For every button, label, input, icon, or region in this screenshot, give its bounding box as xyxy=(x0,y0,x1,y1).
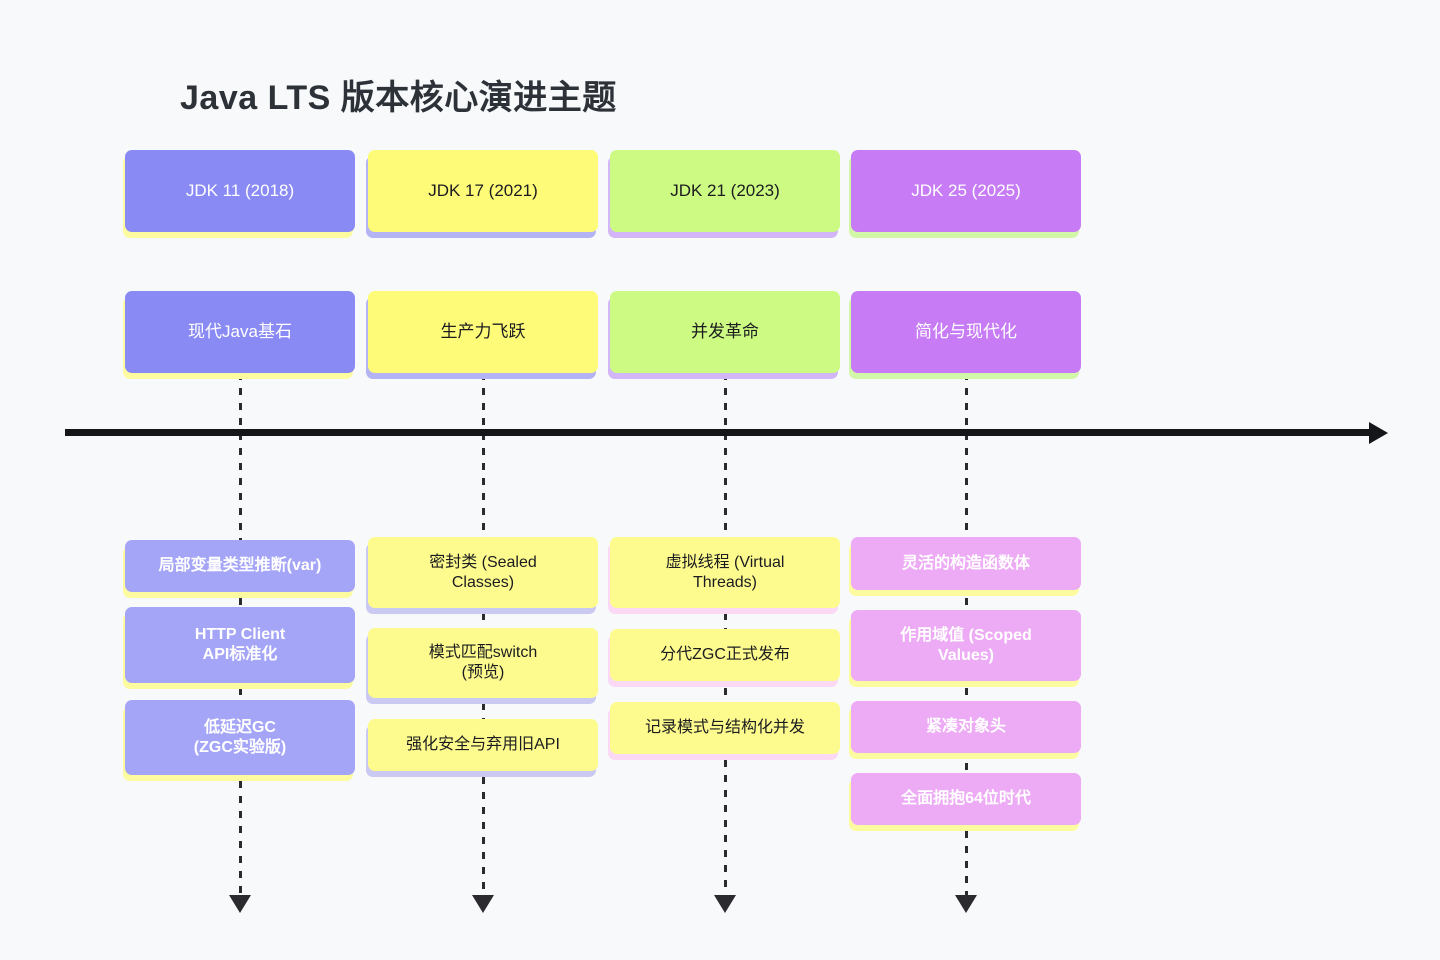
feature-card-jdk11-1[interactable]: 局部变量类型推断(var) xyxy=(125,540,355,592)
feature-card-jdk25-4[interactable]: 全面拥抱64位时代 xyxy=(851,773,1081,825)
version-card-jdk17-label: JDK 17 (2021) xyxy=(428,180,538,201)
dashed-connector xyxy=(482,777,485,895)
feature-card-jdk21-2-label: 分代ZGC正式发布 xyxy=(660,645,790,665)
feature-card-jdk11-1-label: 局部变量类型推断(var) xyxy=(159,556,322,576)
theme-card-jdk17[interactable]: 生产力飞跃 xyxy=(368,291,598,373)
feature-card-jdk25-3-label: 紧凑对象头 xyxy=(926,717,1006,737)
feature-card-jdk17-2-label: 模式匹配switch(预览) xyxy=(429,643,537,683)
feature-card-jdk25-2-label: 作用域值 (ScopedValues) xyxy=(900,626,1032,666)
theme-card-jdk11-label: 现代Java基石 xyxy=(188,321,292,342)
theme-card-jdk11[interactable]: 现代Java基石 xyxy=(125,291,355,373)
page-title: Java LTS 版本核心演进主题 xyxy=(180,70,617,119)
timeline-arrow-icon xyxy=(1369,422,1388,444)
theme-card-jdk21-label: 并发革命 xyxy=(691,321,759,342)
theme-card-jdk25-label: 简化与现代化 xyxy=(915,321,1017,342)
version-card-jdk25[interactable]: JDK 25 (2025) xyxy=(851,150,1081,232)
feature-card-jdk25-1[interactable]: 灵活的构造函数体 xyxy=(851,537,1081,590)
feature-card-jdk25-4-label: 全面拥抱64位时代 xyxy=(901,789,1031,809)
version-card-jdk21-label: JDK 21 (2023) xyxy=(670,180,780,201)
dashed-connector xyxy=(239,781,242,895)
version-card-jdk11-label: JDK 11 (2018) xyxy=(186,180,294,201)
feature-card-jdk21-2[interactable]: 分代ZGC正式发布 xyxy=(610,629,840,681)
diagram-canvas: Java LTS 版本核心演进主题 JDK 11 (2018)现代Java基石局… xyxy=(0,0,1440,960)
feature-card-jdk11-3[interactable]: 低延迟GC(ZGC实验版) xyxy=(125,700,355,775)
version-card-jdk21[interactable]: JDK 21 (2023) xyxy=(610,150,840,232)
connector-arrow-icon xyxy=(472,895,494,913)
feature-card-jdk21-3[interactable]: 记录模式与结构化并发 xyxy=(610,702,840,754)
connector-arrow-icon xyxy=(955,895,977,913)
version-card-jdk11[interactable]: JDK 11 (2018) xyxy=(125,150,355,232)
feature-card-jdk17-1-label: 密封类 (SealedClasses) xyxy=(429,553,537,593)
feature-card-jdk17-1[interactable]: 密封类 (SealedClasses) xyxy=(368,537,598,608)
dashed-connector xyxy=(965,831,968,895)
version-card-jdk25-label: JDK 25 (2025) xyxy=(911,180,1021,201)
feature-card-jdk17-2[interactable]: 模式匹配switch(预览) xyxy=(368,628,598,698)
timeline-axis xyxy=(65,429,1375,436)
feature-card-jdk21-3-label: 记录模式与结构化并发 xyxy=(645,718,805,738)
feature-card-jdk25-2[interactable]: 作用域值 (ScopedValues) xyxy=(851,610,1081,681)
feature-card-jdk17-3-label: 强化安全与弃用旧API xyxy=(406,735,560,755)
theme-card-jdk25[interactable]: 简化与现代化 xyxy=(851,291,1081,373)
dashed-connector xyxy=(724,760,727,895)
feature-card-jdk25-1-label: 灵活的构造函数体 xyxy=(902,554,1030,574)
feature-card-jdk25-3[interactable]: 紧凑对象头 xyxy=(851,701,1081,753)
dashed-connector xyxy=(965,373,968,831)
version-card-jdk17[interactable]: JDK 17 (2021) xyxy=(368,150,598,232)
theme-card-jdk17-label: 生产力飞跃 xyxy=(441,321,526,342)
feature-card-jdk11-2[interactable]: HTTP ClientAPI标准化 xyxy=(125,607,355,683)
feature-card-jdk11-2-label: HTTP ClientAPI标准化 xyxy=(195,625,285,665)
connector-arrow-icon xyxy=(229,895,251,913)
feature-card-jdk21-1[interactable]: 虚拟线程 (VirtualThreads) xyxy=(610,537,840,608)
feature-card-jdk17-3[interactable]: 强化安全与弃用旧API xyxy=(368,719,598,771)
feature-card-jdk11-3-label: 低延迟GC(ZGC实验版) xyxy=(194,718,286,758)
feature-card-jdk21-1-label: 虚拟线程 (VirtualThreads) xyxy=(666,553,785,593)
theme-card-jdk21[interactable]: 并发革命 xyxy=(610,291,840,373)
connector-arrow-icon xyxy=(714,895,736,913)
